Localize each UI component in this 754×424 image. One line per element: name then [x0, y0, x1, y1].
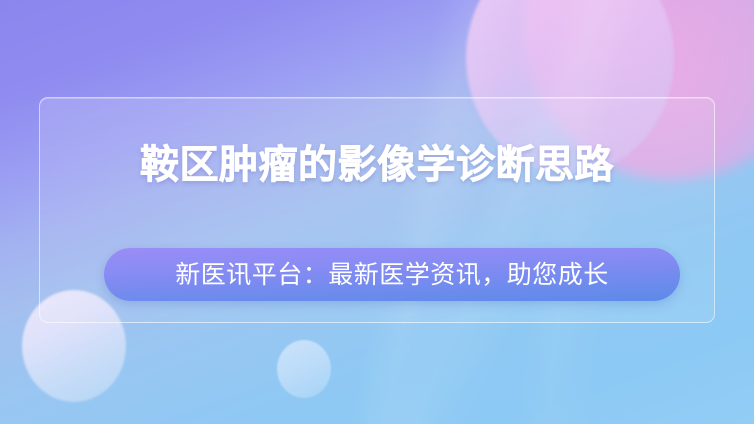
subtitle-text: 新医讯平台：最新医学资讯，助您成长 [175, 260, 609, 290]
subtitle-pill: 新医讯平台：最新医学资讯，助您成长 [104, 248, 680, 301]
title-slide: 鞍区肿瘤的影像学诊断思路 新医讯平台：最新医学资讯，助您成长 [0, 0, 754, 424]
slide-title: 鞍区肿瘤的影像学诊断思路 [0, 141, 754, 191]
pale-circle-small-decoration [277, 340, 331, 398]
